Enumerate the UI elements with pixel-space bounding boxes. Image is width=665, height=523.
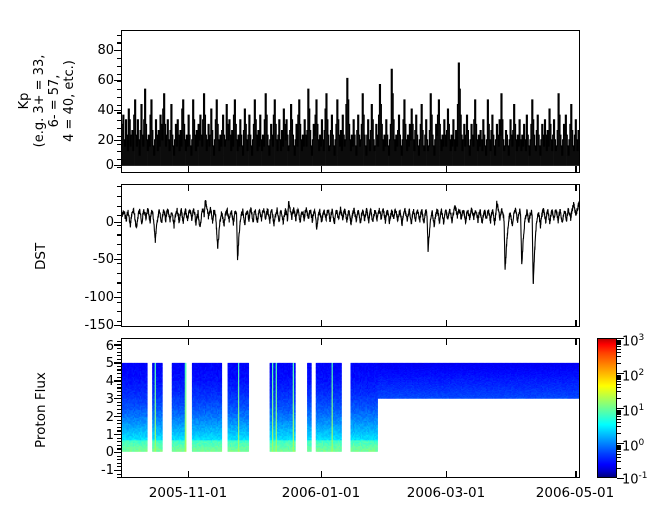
colorbar-label-mantissa: 10	[622, 369, 639, 384]
dst-ytick-label-0: 0	[62, 216, 114, 229]
flux-ytick-minor	[117, 395, 122, 396]
colorbar-tick-minor	[617, 398, 621, 399]
colorbar-label-mantissa: 10	[622, 472, 639, 487]
flux-xtick-top	[446, 338, 447, 345]
kp-ytick-label-80: 80	[72, 44, 114, 57]
flux-ytick-minor	[117, 352, 122, 353]
flux-ytick-minor	[117, 405, 122, 406]
kp-ytick-minor	[117, 89, 122, 90]
flux-ytick-minor	[117, 355, 122, 356]
kp-xtick	[575, 166, 576, 173]
colorbar-tick-minor	[617, 381, 621, 382]
flux-ytick-minor	[117, 380, 122, 381]
proton-flux-colorbar	[597, 338, 617, 478]
flux-ytick-minor	[117, 413, 122, 414]
dst-xtick	[575, 320, 576, 327]
colorbar-tick-minor	[617, 387, 621, 388]
dst-ytick-minor	[117, 196, 122, 197]
kp-ytick-minor	[117, 128, 122, 129]
dst-ytick-minor	[117, 273, 122, 274]
colorbar-tick-minor	[617, 384, 621, 385]
colorbar-tick-minor	[617, 411, 621, 412]
colorbar-tick-minor	[617, 448, 621, 449]
flux-ytick-minor	[117, 463, 122, 464]
dst-ytick-minor	[117, 254, 122, 255]
kp-ytick-minor	[117, 151, 122, 152]
kp-ytick-minor	[117, 112, 122, 113]
colorbar-tick-minor	[617, 446, 621, 447]
dst-xtick-top	[446, 184, 447, 191]
colorbar-label-exponent: 3	[639, 333, 645, 343]
colorbar-label-mantissa: 10	[622, 334, 639, 349]
dst-ytick-minor	[117, 215, 122, 216]
colorbar-tick-minor	[617, 445, 621, 446]
colorbar-tick-minor	[617, 352, 621, 353]
colorbar-tick-minor	[617, 422, 621, 423]
kp-ytick-label-60: 60	[72, 74, 114, 87]
kp-xtick	[446, 166, 447, 173]
colorbar-tick-minor	[617, 416, 621, 417]
colorbar-tick-minor	[617, 468, 621, 469]
flux-ytick-minor	[117, 438, 122, 439]
kp-ytick-minor	[117, 97, 122, 98]
colorbar-tick-minor	[617, 346, 621, 347]
kp-axis-title-line1: Kp	[17, 53, 32, 149]
space-weather-figure: Kp (e.g. 3+ = 33, 6- = 57, 4 = 40, etc.)…	[0, 0, 665, 523]
colorbar-tick-minor	[617, 391, 621, 392]
dst-ytick-minor	[117, 282, 122, 283]
dst-ytick-minor	[117, 292, 122, 293]
dst-xtick	[446, 320, 447, 327]
dst-axis-title: DST	[34, 243, 49, 270]
colorbar-tick-minor	[617, 349, 621, 350]
colorbar-gradient	[597, 338, 617, 478]
colorbar-tick-minor	[617, 376, 621, 377]
kp-ytick-minor	[117, 159, 122, 160]
flux-ytick-minor	[117, 427, 122, 428]
flux-ytick-label-6: 6	[72, 340, 114, 353]
flux-ytick-minor	[117, 434, 122, 435]
dst-ytick-minor	[117, 186, 122, 187]
x-axis-label-0: 2005-11-01	[128, 486, 248, 500]
kp-ytick-minor	[117, 74, 122, 75]
kp-ytick-minor	[117, 105, 122, 106]
flux-ytick-label-3: 3	[72, 393, 114, 406]
flux-axis-title: Proton Flux	[34, 372, 49, 448]
proton-flux-panel	[121, 338, 580, 478]
flux-ytick-minor	[117, 441, 122, 442]
flux-ytick-minor	[117, 466, 122, 467]
flux-ytick-minor	[117, 391, 122, 392]
kp-ytick-minor	[117, 144, 122, 145]
x-axis-label-1: 2006-01-01	[261, 486, 381, 500]
kp-xtick	[188, 166, 189, 173]
colorbar-label-1e3: 103	[622, 332, 644, 348]
flux-ytick-minor	[117, 456, 122, 457]
dst-xtick	[321, 320, 322, 327]
flux-xtick-top	[575, 338, 576, 345]
flux-ytick-minor	[117, 362, 122, 363]
colorbar-tick-minor	[617, 363, 621, 364]
dst-ytick-minor	[117, 234, 122, 235]
colorbar-tick-minor	[617, 340, 621, 341]
dst-ytick-minor	[117, 311, 122, 312]
flux-ytick-minor	[117, 402, 122, 403]
kp-panel	[121, 30, 580, 173]
flux-ytick-minor	[117, 366, 122, 367]
kp-ytick-label-20: 20	[72, 134, 114, 147]
flux-ytick-label-4: 4	[72, 375, 114, 388]
colorbar-label-1e0: 100	[622, 437, 644, 453]
flux-xtick	[575, 471, 576, 478]
flux-ytick-label--1: -1	[66, 464, 114, 477]
flux-ytick-minor	[117, 470, 122, 471]
kp-ytick-minor	[117, 136, 122, 137]
colorbar-label-exponent: -1	[639, 471, 648, 481]
colorbar-tick-minor	[617, 375, 621, 376]
kp-ytick-minor	[117, 35, 122, 36]
flux-ytick-minor	[117, 420, 122, 421]
colorbar-tick-minor	[617, 457, 621, 458]
flux-ytick-minor	[117, 377, 122, 378]
colorbar-tick-minor	[617, 451, 621, 452]
flux-ytick-minor	[117, 344, 122, 345]
proton-flux-spectrogram	[122, 339, 579, 477]
flux-ytick-minor	[117, 430, 122, 431]
dst-ytick-minor	[117, 225, 122, 226]
flux-ytick-minor	[117, 459, 122, 460]
dst-xtick-top	[321, 184, 322, 191]
flux-ytick-label-5: 5	[72, 357, 114, 370]
kp-ytick-minor	[117, 120, 122, 121]
flux-ytick-minor	[117, 373, 122, 374]
flux-ytick-label-1: 1	[72, 429, 114, 442]
kp-axis-title-line3: 6- = 57,	[47, 53, 62, 149]
colorbar-tick-minor	[617, 433, 621, 434]
colorbar-tick-minor	[617, 356, 621, 357]
kp-ytick-label-40: 40	[72, 104, 114, 117]
flux-ytick-label-0: 0	[72, 446, 114, 459]
flux-ytick-minor	[117, 348, 122, 349]
colorbar-label-mantissa: 10	[622, 439, 639, 454]
flux-ytick-minor	[117, 341, 122, 342]
dst-ytick-minor	[117, 302, 122, 303]
flux-ytick-minor	[117, 416, 122, 417]
kp-ytick-minor	[117, 50, 122, 51]
kp-ytick-minor	[117, 167, 122, 168]
flux-xtick-top	[188, 338, 189, 345]
kp-axis-title-line2: (e.g. 3+ = 33,	[32, 53, 47, 149]
colorbar-label-mantissa: 10	[622, 404, 639, 419]
dst-xtick	[188, 320, 189, 327]
x-axis-label-2: 2006-03-01	[386, 486, 506, 500]
colorbar-label-1e2: 102	[622, 367, 644, 383]
flux-ytick-minor	[117, 384, 122, 385]
colorbar-label-exponent: 2	[639, 368, 645, 378]
colorbar-tick-minor	[617, 343, 621, 344]
colorbar-tick-minor	[617, 461, 621, 462]
colorbar-label-exponent: 1	[639, 403, 645, 413]
flux-ytick-minor	[117, 423, 122, 424]
flux-ytick-minor	[117, 452, 122, 453]
kp-series	[122, 31, 579, 172]
dst-xtick-top	[188, 184, 189, 191]
dst-series	[122, 185, 579, 326]
colorbar-label-1e-1: 10-1	[622, 470, 648, 486]
colorbar-tick-minor	[617, 426, 621, 427]
colorbar-tick-minor	[617, 410, 621, 411]
flux-ytick-minor	[117, 387, 122, 388]
kp-ytick-minor	[117, 58, 122, 59]
dst-xtick-top	[575, 184, 576, 191]
dst-ytick-label--100: -100	[62, 291, 114, 304]
x-axis-label-3: 2006-05-01	[515, 486, 635, 500]
colorbar-tick-minor	[617, 419, 621, 420]
flux-xtick	[188, 471, 189, 478]
kp-ytick-minor	[117, 81, 122, 82]
dst-ytick-minor	[117, 244, 122, 245]
colorbar-tick-minor	[617, 341, 621, 342]
flux-ytick-minor	[117, 359, 122, 360]
flux-ytick-minor	[117, 409, 122, 410]
flux-xtick	[446, 471, 447, 478]
dst-ytick-minor	[117, 206, 122, 207]
flux-ytick-minor	[117, 398, 122, 399]
colorbar-tick-minor	[617, 378, 621, 379]
flux-ytick-minor	[117, 448, 122, 449]
dst-panel	[121, 184, 580, 327]
kp-ytick-minor	[117, 42, 122, 43]
kp-ytick-minor	[117, 66, 122, 67]
dst-ytick-minor	[117, 321, 122, 322]
dst-ytick-minor	[117, 263, 122, 264]
colorbar-tick-minor	[617, 454, 621, 455]
colorbar-tick-minor	[617, 413, 621, 414]
kp-ytick-label-0: 0	[72, 159, 114, 172]
dst-ytick-label--50: -50	[62, 253, 114, 266]
flux-ytick-minor	[117, 369, 122, 370]
colorbar-label-1e1: 101	[622, 402, 644, 418]
flux-ytick-label-2: 2	[72, 411, 114, 424]
flux-xtick-top	[321, 338, 322, 345]
flux-ytick-minor	[117, 445, 122, 446]
colorbar-label-exponent: 0	[639, 438, 645, 448]
dst-ytick-label--150: -150	[62, 319, 114, 332]
kp-xtick	[321, 166, 322, 173]
